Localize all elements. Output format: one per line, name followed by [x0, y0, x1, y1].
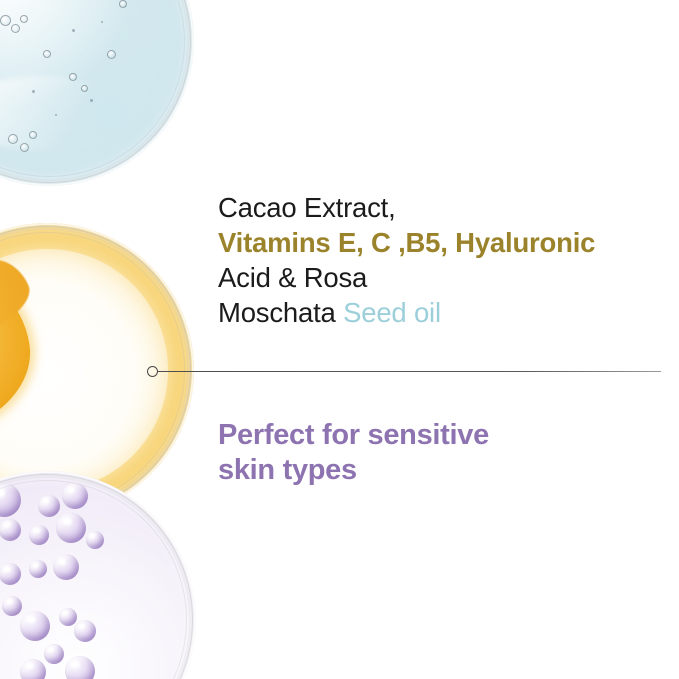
tagline-block: Perfect for sensitive skin types	[218, 418, 638, 488]
ingredients-line-4-prefix: Moschata	[218, 297, 343, 328]
ingredients-line-3: Acid & Rosa	[218, 260, 670, 295]
purple-bubble-dish	[0, 471, 196, 679]
tagline-line-1: Perfect for sensitive	[218, 418, 638, 453]
divider-rule	[158, 371, 661, 372]
ingredients-line-1: Cacao Extract,	[218, 190, 670, 225]
tagline-line-2: skin types	[218, 453, 638, 488]
ingredients-line-4: Moschata Seed oil	[218, 295, 670, 330]
divider	[147, 366, 661, 378]
ingredients-line-2: Vitamins E, C ,B5, Hyaluronic	[218, 225, 670, 260]
ingredients-seed-oil-highlight: Seed oil	[343, 297, 441, 328]
ingredients-text-block: Cacao Extract, Vitamins E, C ,B5, Hyalur…	[218, 190, 670, 330]
product-ingredient-graphic: Cacao Extract, Vitamins E, C ,B5, Hyalur…	[0, 0, 679, 679]
blue-gel-dish	[0, 0, 194, 186]
divider-circle-node-icon	[147, 366, 158, 377]
